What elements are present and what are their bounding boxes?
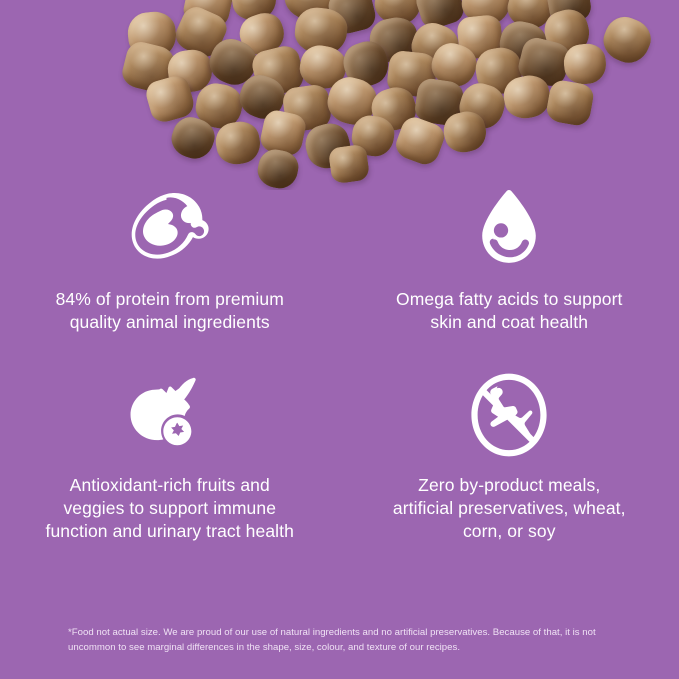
feature-omega-text: Omega fatty acids to support skin and co… [389, 288, 629, 334]
feature-antioxidant: Antioxidant-rich fruits and veggies to s… [0, 368, 340, 543]
fruit-berry-icon [123, 368, 217, 462]
meat-cut-icon [123, 182, 217, 276]
feature-antioxidant-text: Antioxidant-rich fruits and veggies to s… [45, 474, 295, 543]
feature-omega: Omega fatty acids to support skin and co… [340, 182, 679, 334]
kibble-scatter [0, 0, 679, 190]
kibble-piece [562, 42, 608, 86]
feature-no-byproduct-text: Zero by-product meals, artificial preser… [389, 474, 629, 543]
water-droplet-smile-icon [462, 182, 556, 276]
kibble-piece [545, 78, 596, 127]
kibble-piece [597, 11, 656, 69]
kibble-piece [328, 144, 371, 185]
feature-protein: 84% of protein from premium quality anim… [0, 182, 340, 334]
no-byproduct-prohibition-icon [462, 368, 556, 462]
feature-protein-text: 84% of protein from premium quality anim… [45, 288, 295, 334]
pet-food-feature-panel: 84% of protein from premium quality anim… [0, 0, 679, 679]
footnote-disclaimer: *Food not actual size. We are proud of o… [68, 626, 619, 656]
feature-no-byproduct: Zero by-product meals, artificial preser… [340, 368, 679, 543]
feature-grid: 84% of protein from premium quality anim… [0, 182, 679, 543]
